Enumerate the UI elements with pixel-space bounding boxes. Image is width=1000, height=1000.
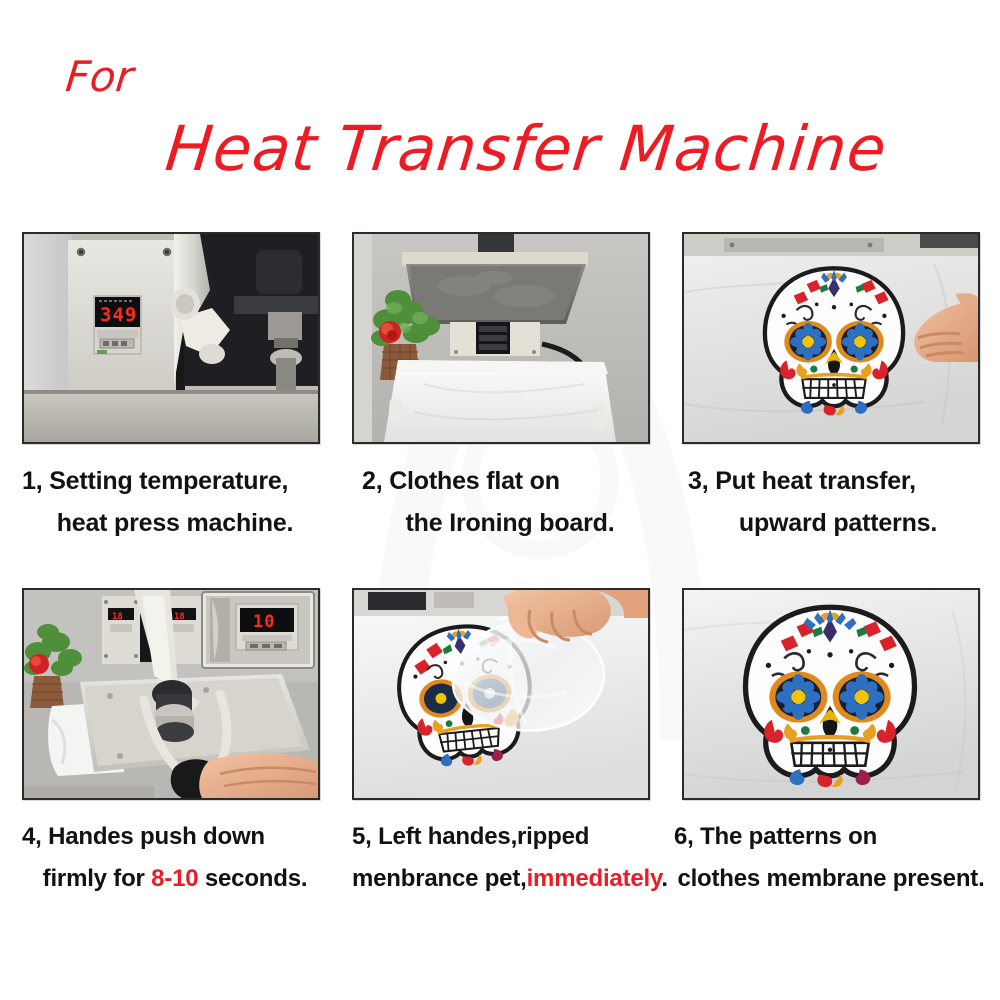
svg-text:349: 349 — [100, 304, 137, 326]
step-6-caption-line2: clothes membrane present. — [674, 858, 988, 900]
heat-press-control-panel-photo: 349 — [22, 232, 320, 444]
step-6-caption-line1: 6, The patterns on — [674, 816, 988, 858]
step-4-caption: 4, Handes push down firmly for 8-10 seco… — [22, 816, 328, 900]
svg-text:10: 10 — [253, 612, 275, 632]
step-3-caption-line2: upward patterns. — [688, 502, 988, 544]
step-5-immediately-highlight: immediately — [527, 865, 662, 892]
title-for: For — [63, 52, 135, 101]
step-2-caption-line2: the Ironing board. — [362, 502, 658, 544]
press-open-with-cloth-photo — [352, 232, 650, 444]
step-1-caption: 1, Setting temperature, heat press machi… — [22, 460, 328, 544]
step-4-duration-highlight: 8-10 — [151, 865, 198, 892]
step-5-caption-pre: menbrance pet, — [352, 865, 527, 892]
press-closed-handle-push-photo: 18 18 — [22, 588, 320, 800]
step-4-caption-pre: firmly for — [43, 865, 151, 892]
step-3-caption-line1: 3, Put heat transfer, — [688, 460, 988, 502]
finished-transfer-on-garment-photo — [682, 588, 980, 800]
step-1-caption-line1: 1, Setting temperature, — [22, 460, 328, 502]
step-card-1: 349 — [22, 232, 328, 544]
svg-text:18: 18 — [112, 612, 123, 622]
step-1-caption-line2: heat press machine. — [22, 502, 328, 544]
page-title: Heat Transfer Machine — [162, 112, 890, 185]
step-card-5: 5, Left handes,ripped menbrance pet,imme… — [352, 588, 658, 900]
step-4-caption-line2: firmly for 8-10 seconds. — [22, 858, 328, 900]
step-4-caption-line1: 4, Handes push down — [22, 816, 328, 858]
step-5-caption: 5, Left handes,ripped menbrance pet,imme… — [352, 816, 658, 900]
peeling-pet-membrane-photo — [352, 588, 650, 800]
svg-text:18: 18 — [174, 612, 185, 622]
transfer-placed-on-cloth-photo — [682, 232, 980, 444]
step-3-caption: 3, Put heat transfer, upward patterns. — [688, 460, 988, 544]
step-2-caption-line1: 2, Clothes flat on — [362, 460, 658, 502]
step-card-4: 18 18 — [22, 588, 328, 900]
step-6-caption: 6, The patterns on clothes membrane pres… — [674, 816, 988, 900]
step-card-3: 3, Put heat transfer, upward patterns. — [682, 232, 988, 544]
step-5-caption-post: . — [661, 865, 667, 892]
step-5-caption-line2: menbrance pet,immediately. — [352, 858, 658, 900]
step-card-2: 2, Clothes flat on the Ironing board. — [352, 232, 658, 544]
step-4-caption-post: seconds. — [198, 865, 307, 892]
step-2-caption: 2, Clothes flat on the Ironing board. — [362, 460, 658, 544]
instruction-poster: For Heat Transfer Machine — [0, 0, 1000, 1000]
step-card-6: 6, The patterns on clothes membrane pres… — [682, 588, 988, 900]
step-5-caption-line1: 5, Left handes,ripped — [352, 816, 658, 858]
